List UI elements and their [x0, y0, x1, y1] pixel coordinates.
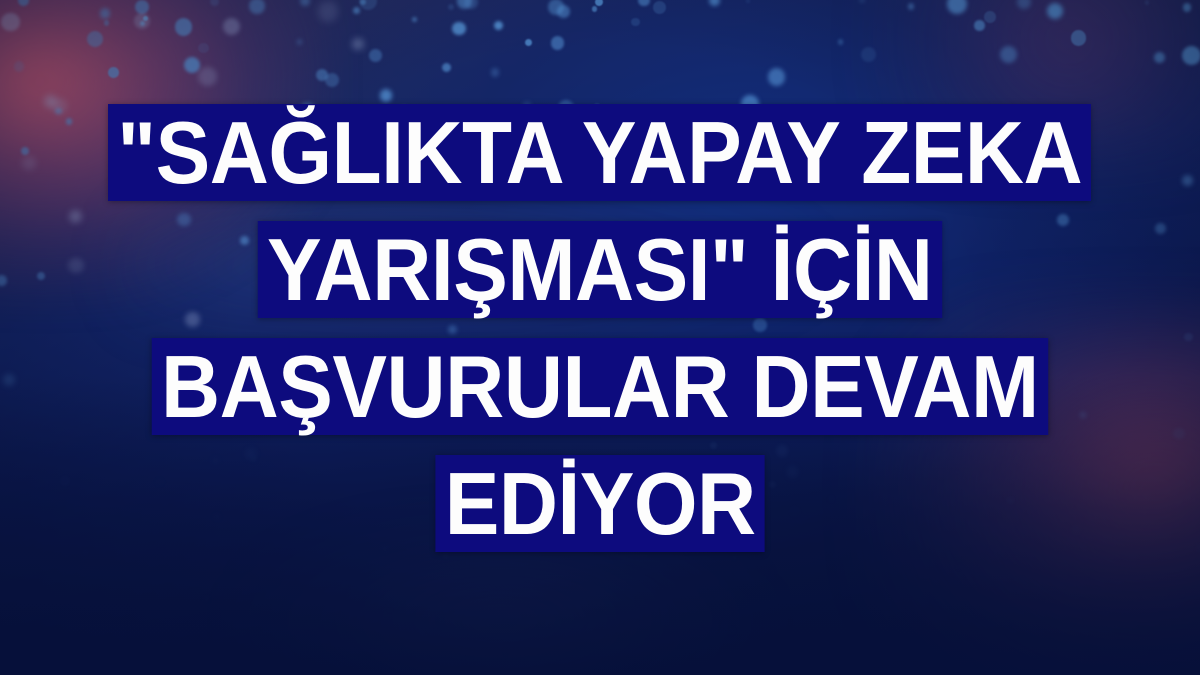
headline-banner: "SAĞLIKTA YAPAY ZEKA YARIŞMASI" İÇİN BAŞ…: [0, 0, 1200, 675]
headline-line-3: BAŞVURULAR DEVAM: [0, 338, 1200, 435]
headline-line-4: EDİYOR: [0, 455, 1200, 552]
headline-line-3-text: BAŞVURULAR DEVAM: [152, 338, 1048, 435]
headline-block: "SAĞLIKTA YAPAY ZEKA YARIŞMASI" İÇİN BAŞ…: [0, 104, 1200, 552]
headline-line-1: "SAĞLIKTA YAPAY ZEKA: [0, 104, 1200, 201]
headline-line-2: YARIŞMASI" İÇİN: [0, 221, 1200, 318]
headline-line-2-text: YARIŞMASI" İÇİN: [258, 221, 942, 318]
headline-line-1-text: "SAĞLIKTA YAPAY ZEKA: [108, 104, 1091, 201]
headline-line-4-text: EDİYOR: [435, 455, 765, 552]
